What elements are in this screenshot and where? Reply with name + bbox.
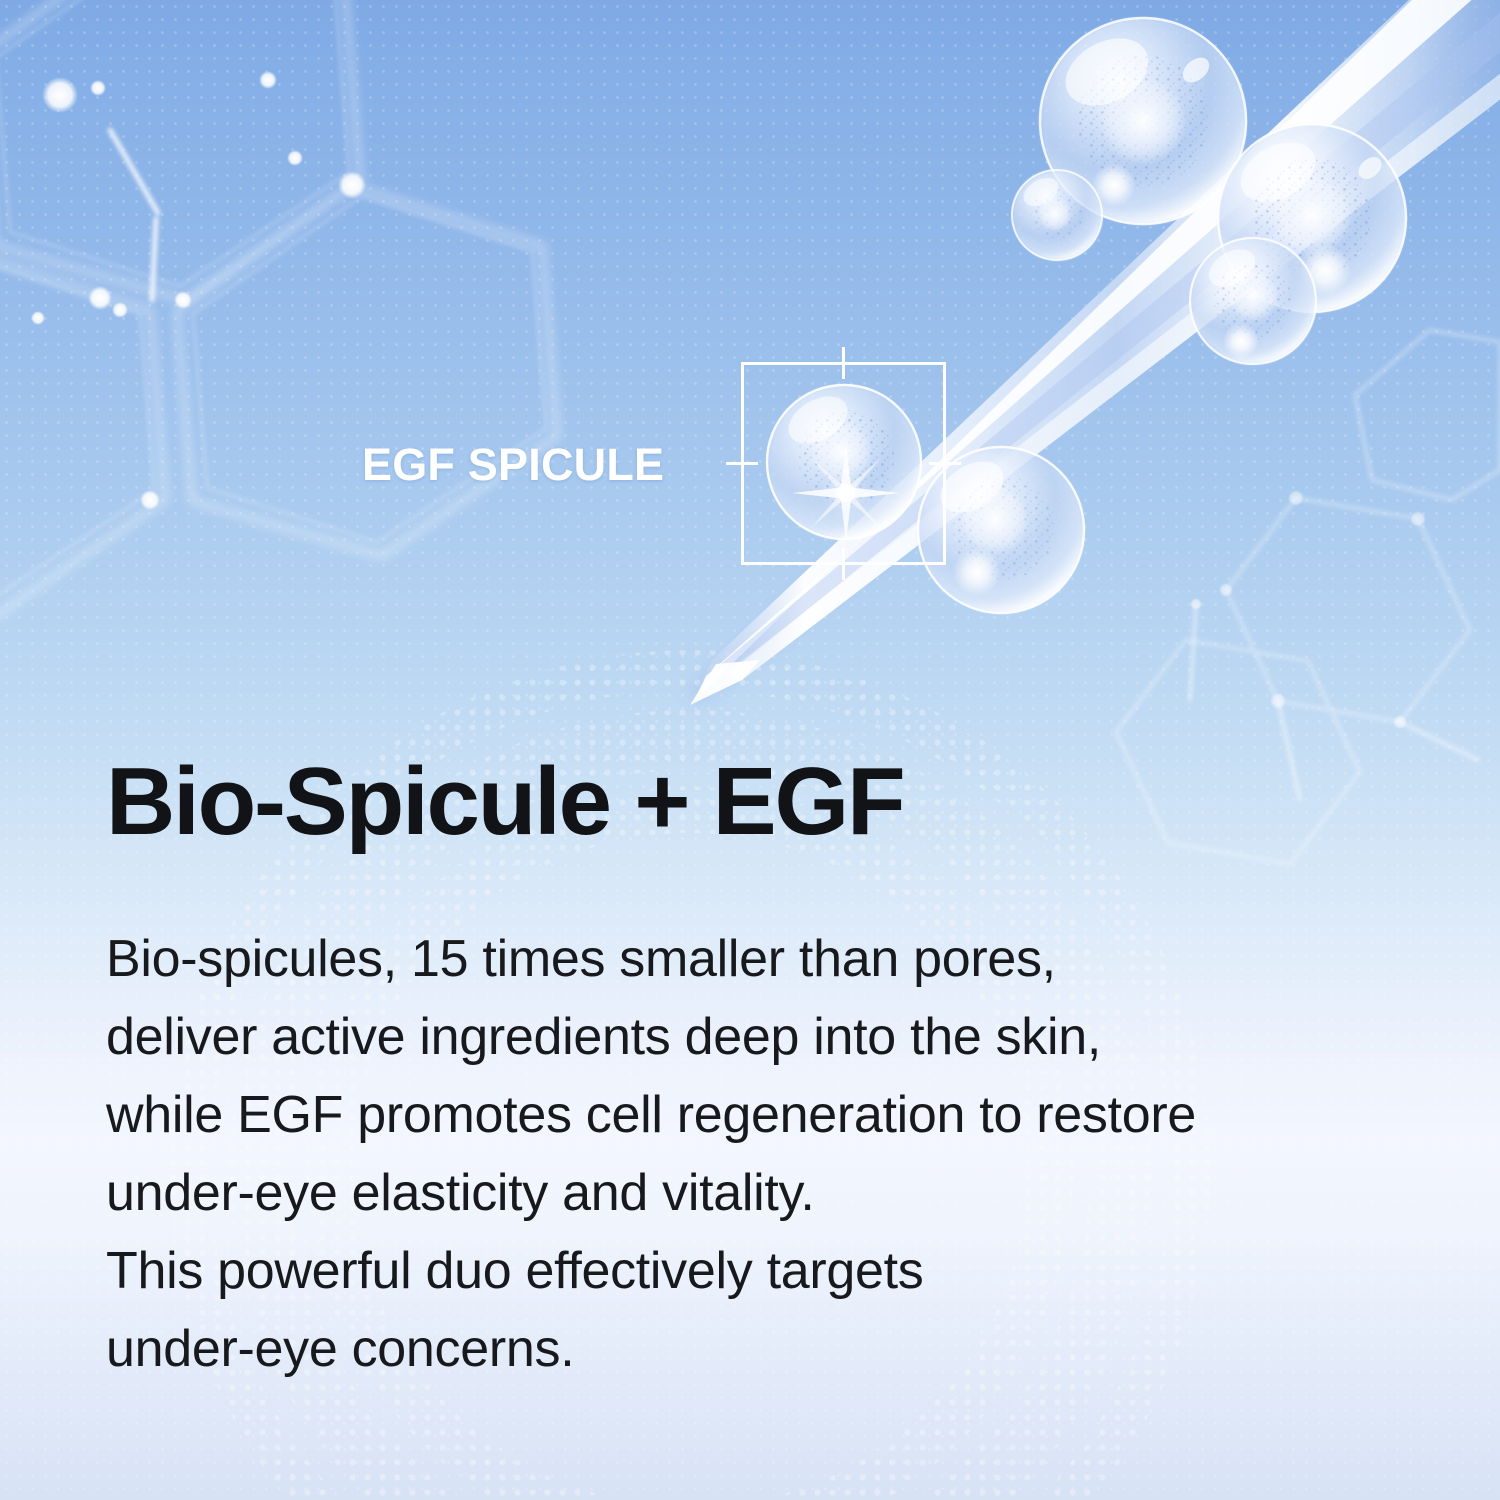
body-line: This powerful duo effectively targets [106,1232,1446,1310]
page-title: Bio-Spicule + EGF [106,752,1446,852]
body-line: Bio-spicules, 15 times smaller than pore… [106,920,1446,998]
copy-block: Bio-Spicule + EGF Bio-spicules, 15 times… [106,752,1446,1388]
promo-graphic-canvas: EGF SPICULE Bio-Spicule + EGF Bio-spicul… [0,0,1500,1500]
bubble-small-left [1012,170,1102,260]
bubble-medium-lower [1190,238,1316,364]
reticle-tick-bottom [842,548,845,580]
bubble-focus-target [767,385,921,541]
body-line: while EGF promotes cell regeneration to … [106,1076,1446,1154]
body-paragraph: Bio-spicules, 15 times smaller than pore… [106,852,1446,1388]
body-line: under-eye concerns. [106,1310,1446,1388]
reticle-tick-left [726,462,758,465]
reticle-frame [741,362,946,565]
reticle-tick-top [842,347,845,379]
bubble-lower-right [918,447,1084,613]
glass-spicule-needle [688,0,1500,706]
bubble-large-right [1218,124,1406,312]
body-line: deliver active ingredients deep into the… [106,998,1446,1076]
egf-spicule-callout-label: EGF SPICULE [362,442,664,487]
targeting-reticle-icon [741,362,946,565]
reticle-tick-right [929,462,961,465]
body-line: under-eye elasticity and vitality. [106,1154,1446,1232]
bubble-large-top-left [1040,18,1246,224]
